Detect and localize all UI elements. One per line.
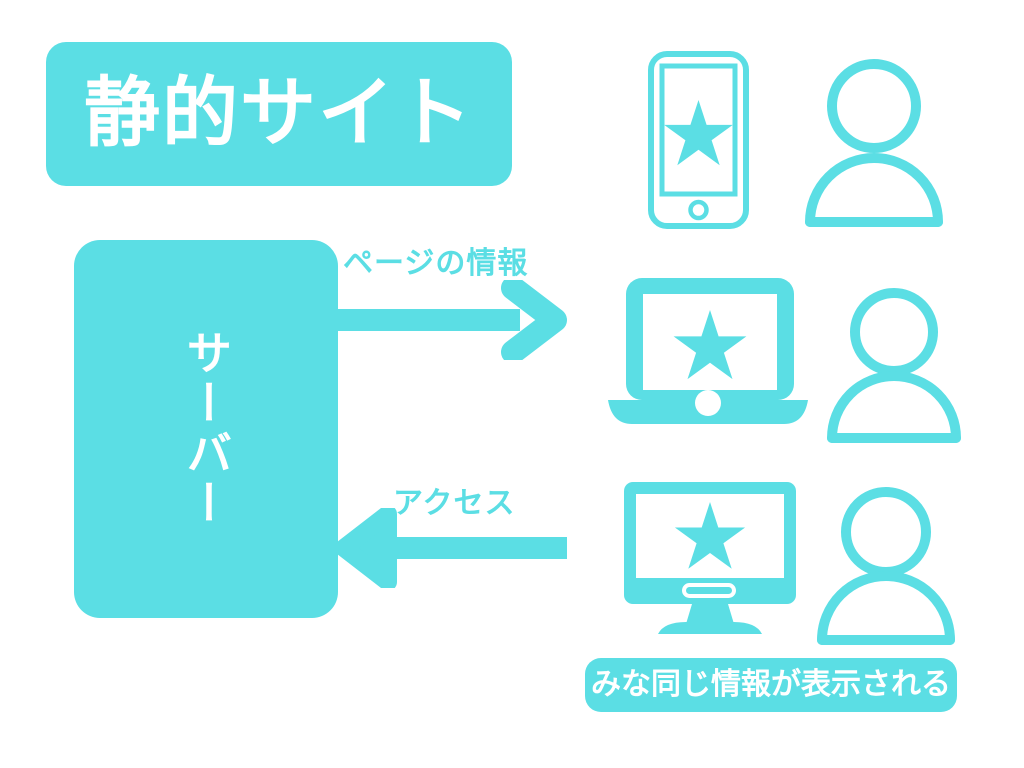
page-info-arrow-icon	[330, 280, 570, 360]
diagram-canvas: 静的サイト サーバー ページの情報 アクセス	[0, 0, 1024, 768]
smartphone-icon	[636, 48, 776, 233]
caption-badge: みな同じ情報が表示される	[585, 658, 957, 712]
person-icon	[810, 482, 975, 647]
person-icon	[820, 284, 980, 444]
access-arrow-icon	[332, 508, 572, 588]
server-label: サーバー	[176, 329, 237, 529]
server-box: サーバー	[74, 240, 338, 618]
title-badge: 静的サイト	[46, 42, 512, 186]
star-icon	[664, 100, 733, 165]
laptop-icon	[598, 272, 818, 432]
person-icon	[800, 54, 960, 229]
title-label: 静的サイト	[84, 76, 474, 152]
desktop-monitor-icon	[602, 472, 812, 637]
page-info-arrow-label: ページの情報	[343, 238, 528, 282]
caption-label: みな同じ情報が表示される	[591, 670, 951, 700]
